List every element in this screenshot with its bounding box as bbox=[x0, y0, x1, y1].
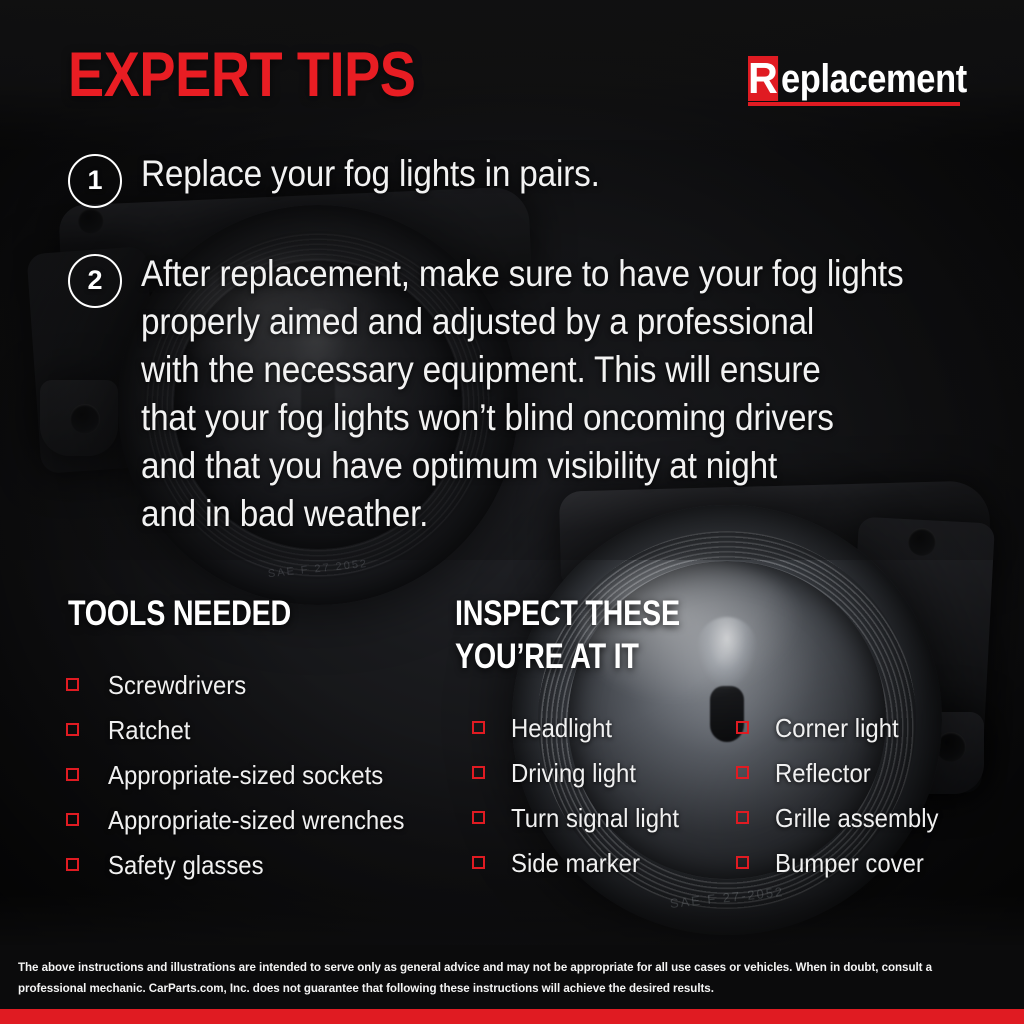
checkbox-icon[interactable] bbox=[66, 678, 79, 691]
list-item-label: Driving light bbox=[511, 758, 636, 788]
list-item-label: Safety glasses bbox=[108, 850, 264, 880]
expert-tips-infographic: SAE F 27 2052 SAE F 27-2052 EXPERT TIPS … bbox=[0, 0, 1024, 1024]
list-item: Bumper cover bbox=[736, 840, 953, 885]
list-item-label: Ratchet bbox=[108, 715, 190, 745]
logo-word: eplacement bbox=[781, 56, 967, 101]
list-item: Turn signal light bbox=[472, 795, 694, 840]
tip-number-badge-1: 1 bbox=[68, 154, 122, 208]
list-item: Screwdrivers bbox=[66, 662, 430, 707]
list-item-label: Appropriate-sized sockets bbox=[108, 760, 383, 790]
content-layer: EXPERT TIPS R eplacement 1 Replace your … bbox=[0, 0, 1024, 1024]
tip-text-1: Replace your fog lights in pairs. bbox=[141, 150, 600, 198]
list-item: Appropriate-sized sockets bbox=[66, 752, 430, 797]
checkbox-icon[interactable] bbox=[472, 721, 485, 734]
inspect-list-column-a: Headlight Driving light Turn signal ligh… bbox=[472, 705, 694, 885]
list-item-label: Appropriate-sized wrenches bbox=[108, 805, 404, 835]
replacement-logo: R eplacement bbox=[748, 56, 960, 106]
list-item-label: Corner light bbox=[775, 713, 899, 743]
checkbox-icon[interactable] bbox=[736, 766, 749, 779]
list-item-label: Bumper cover bbox=[775, 848, 924, 878]
tools-needed-list: Screwdrivers Ratchet Appropriate-sized s… bbox=[66, 662, 430, 887]
list-item-label: Grille assembly bbox=[775, 803, 939, 833]
list-item-label: Turn signal light bbox=[511, 803, 679, 833]
list-item-label: Reflector bbox=[775, 758, 871, 788]
list-item: Driving light bbox=[472, 750, 694, 795]
list-item-label: Side marker bbox=[511, 848, 640, 878]
tip-item-2: 2 After replacement, make sure to have y… bbox=[68, 250, 988, 538]
checkbox-icon[interactable] bbox=[66, 858, 79, 871]
checkbox-icon[interactable] bbox=[736, 721, 749, 734]
checkbox-icon[interactable] bbox=[66, 768, 79, 781]
logo-initial-badge: R bbox=[748, 56, 778, 101]
list-item: Corner light bbox=[736, 705, 953, 750]
inspect-list-column-b: Corner light Reflector Grille assembly B… bbox=[736, 705, 953, 885]
checkbox-icon[interactable] bbox=[472, 766, 485, 779]
tools-needed-heading: TOOLS NEEDED bbox=[68, 592, 291, 635]
disclaimer-text: The above instructions and illustrations… bbox=[18, 957, 953, 999]
tip-item-1: 1 Replace your fog lights in pairs. bbox=[68, 150, 651, 208]
checkbox-icon[interactable] bbox=[472, 856, 485, 869]
tip-text-2: After replacement, make sure to have you… bbox=[141, 250, 903, 538]
checkbox-icon[interactable] bbox=[472, 811, 485, 824]
inspect-these-heading: INSPECT THESE YOU’RE AT IT bbox=[455, 592, 680, 678]
disclaimer-footer: The above instructions and illustrations… bbox=[0, 945, 1024, 1009]
checkbox-icon[interactable] bbox=[736, 856, 749, 869]
list-item: Headlight bbox=[472, 705, 694, 750]
list-item: Side marker bbox=[472, 840, 694, 885]
list-item: Reflector bbox=[736, 750, 953, 795]
checkbox-icon[interactable] bbox=[66, 723, 79, 736]
list-item: Grille assembly bbox=[736, 795, 953, 840]
footer-accent-bar bbox=[0, 1009, 1024, 1024]
list-item-label: Screwdrivers bbox=[108, 670, 246, 700]
list-item: Appropriate-sized wrenches bbox=[66, 797, 430, 842]
logo-wordmark: R eplacement bbox=[748, 56, 960, 101]
logo-underline bbox=[748, 102, 960, 106]
checkbox-icon[interactable] bbox=[736, 811, 749, 824]
list-item: Safety glasses bbox=[66, 842, 430, 887]
list-item-label: Headlight bbox=[511, 713, 612, 743]
list-item: Ratchet bbox=[66, 707, 430, 752]
checkbox-icon[interactable] bbox=[66, 813, 79, 826]
tip-number-badge-2: 2 bbox=[68, 254, 122, 308]
page-title: EXPERT TIPS bbox=[68, 44, 416, 107]
